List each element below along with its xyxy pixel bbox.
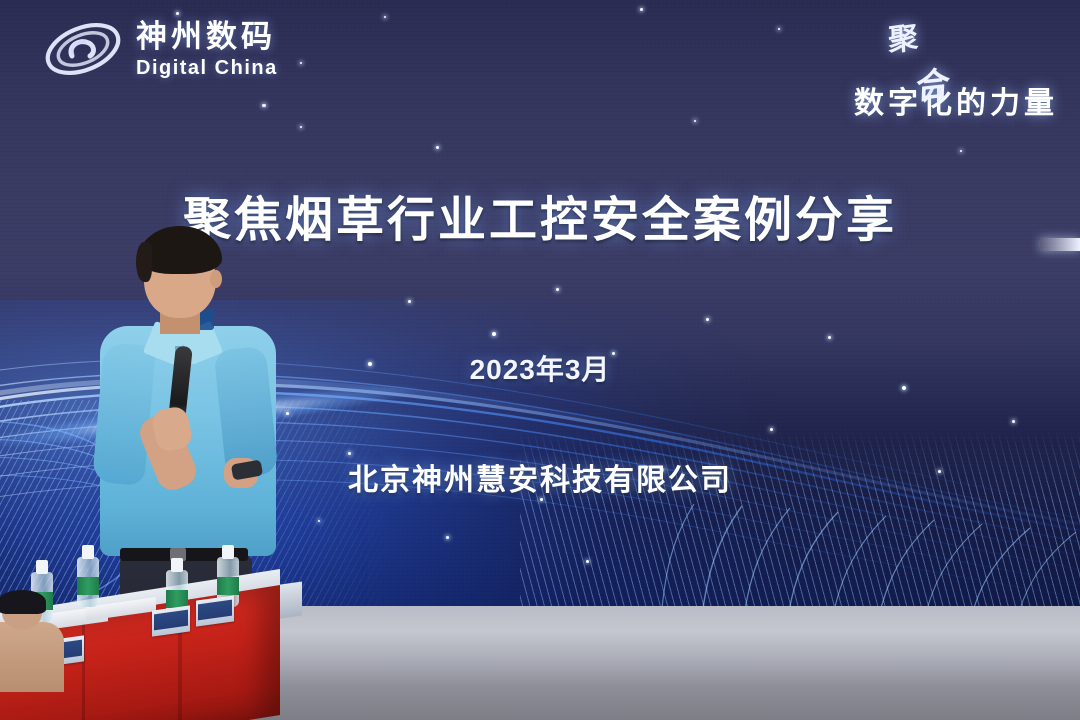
slogan-char-he: 合 (915, 56, 951, 109)
presentation-photo-scene: 聚焦烟草行业工控安全案例分享 2023年3月 北京神州慧安科技有限公司 神州数码… (0, 0, 1080, 720)
brand-name-cn: 神州数码 (136, 21, 278, 52)
slogan-char-ju: 聚 (887, 12, 918, 60)
event-slogan: 聚 合 数字化的力量 (854, 16, 1058, 122)
name-card (196, 595, 234, 626)
speaker-ear (210, 270, 222, 288)
seated-attendee (0, 596, 66, 720)
water-bottle (77, 545, 99, 607)
brand-name-en: Digital China (136, 58, 278, 78)
attendee-body (0, 622, 64, 692)
screen-edge-light-bar (1040, 238, 1080, 251)
speaker-hair-side (136, 242, 152, 282)
name-card (152, 605, 190, 636)
slogan-calligraphy: 聚 合 (854, 16, 1058, 78)
slogan-subtitle: 数字化的力量 (854, 78, 1058, 122)
attendee-hair (0, 590, 46, 614)
brand-logo: 神州数码 Digital China (42, 18, 278, 80)
swirl-spiral-icon (42, 18, 124, 80)
